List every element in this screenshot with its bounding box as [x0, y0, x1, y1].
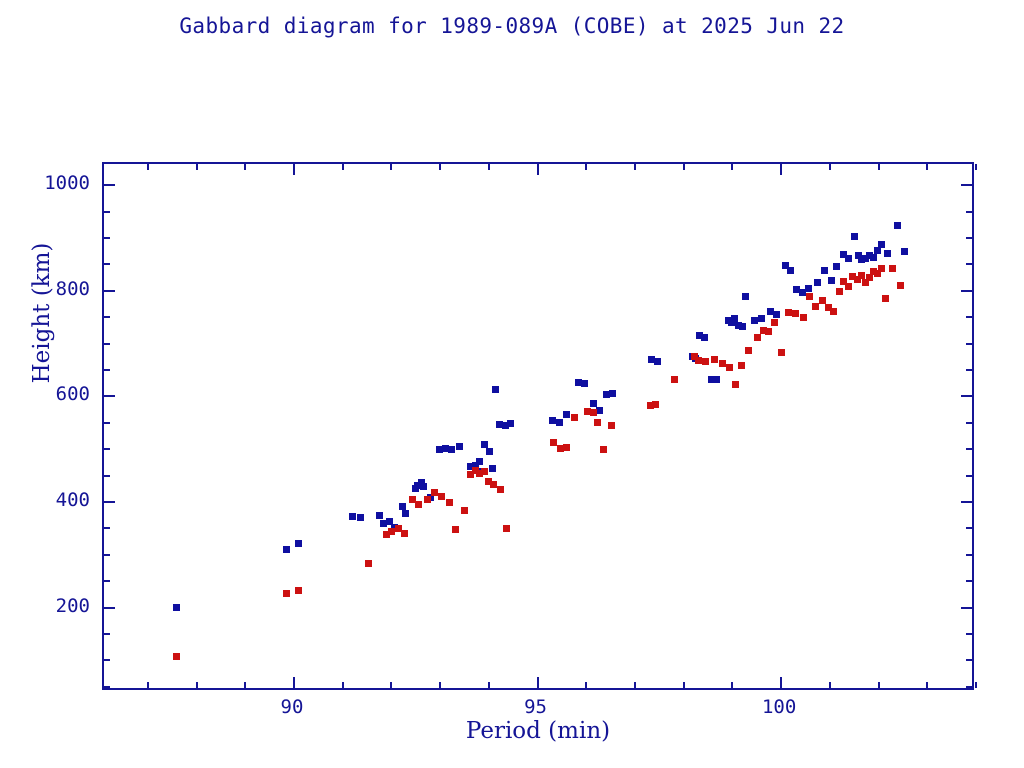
- y-tick-major: [104, 290, 115, 292]
- x-tick-minor: [634, 682, 636, 688]
- x-tick-minor: [683, 682, 685, 688]
- y-tick-minor: [966, 580, 972, 582]
- data-point-perigee: [819, 297, 826, 304]
- data-point-perigee: [806, 293, 813, 300]
- x-tick-minor: [244, 164, 246, 170]
- data-point-perigee: [792, 310, 799, 317]
- data-point-perigee: [608, 422, 615, 429]
- data-point-apogee: [563, 411, 570, 418]
- x-tick-minor: [634, 164, 636, 170]
- data-point-perigee: [438, 493, 445, 500]
- data-point-apogee: [654, 358, 661, 365]
- x-tick-minor: [926, 682, 928, 688]
- data-point-perigee: [461, 507, 468, 514]
- x-tick-minor: [342, 164, 344, 170]
- x-tick-minor: [683, 164, 685, 170]
- data-point-apogee: [821, 267, 828, 274]
- data-point-apogee: [349, 513, 356, 520]
- data-point-perigee: [424, 496, 431, 503]
- page-title: Gabbard diagram for 1989-089A (COBE) at …: [0, 14, 1024, 38]
- y-tick-minor: [104, 448, 110, 450]
- x-tick-minor: [731, 164, 733, 170]
- x-tick-minor: [975, 682, 977, 688]
- x-tick-minor: [244, 682, 246, 688]
- x-tick-major: [537, 677, 539, 688]
- y-tick-minor: [104, 686, 110, 688]
- data-point-perigee: [452, 526, 459, 533]
- data-point-perigee: [754, 334, 761, 341]
- data-point-apogee: [828, 277, 835, 284]
- data-point-apogee: [556, 419, 563, 426]
- data-point-apogee: [884, 250, 891, 257]
- data-point-apogee: [894, 222, 901, 229]
- y-tick-minor: [104, 633, 110, 635]
- data-point-perigee: [590, 409, 597, 416]
- data-point-apogee: [295, 540, 302, 547]
- data-point-apogee: [833, 263, 840, 270]
- x-tick-minor: [585, 682, 587, 688]
- y-tick-major: [961, 607, 972, 609]
- y-tick-minor: [104, 659, 110, 661]
- x-tick-minor: [196, 682, 198, 688]
- data-point-apogee: [357, 514, 364, 521]
- data-point-perigee: [738, 362, 745, 369]
- y-tick-major: [104, 607, 115, 609]
- y-tick-minor: [966, 475, 972, 477]
- y-tick-minor: [104, 422, 110, 424]
- data-point-apogee: [448, 446, 455, 453]
- data-point-perigee: [726, 364, 733, 371]
- y-tick-minor: [104, 237, 110, 239]
- data-point-perigee: [702, 358, 709, 365]
- data-point-perigee: [401, 530, 408, 537]
- y-tick-major: [961, 501, 972, 503]
- y-tick-minor: [104, 369, 110, 371]
- data-point-perigee: [778, 349, 785, 356]
- y-tick-minor: [966, 554, 972, 556]
- data-point-apogee: [486, 448, 493, 455]
- y-tick-minor: [104, 475, 110, 477]
- x-tick-label: 95: [524, 696, 547, 718]
- data-point-apogee: [701, 334, 708, 341]
- x-tick-label: 90: [281, 696, 304, 718]
- data-point-perigee: [415, 501, 422, 508]
- y-tick-major: [104, 184, 115, 186]
- data-point-apogee: [739, 323, 746, 330]
- x-tick-minor: [439, 682, 441, 688]
- y-tick-label: 200: [10, 595, 90, 617]
- y-tick-minor: [966, 237, 972, 239]
- data-point-apogee: [420, 483, 427, 490]
- data-point-perigee: [711, 356, 718, 363]
- data-point-apogee: [456, 443, 463, 450]
- data-point-perigee: [800, 314, 807, 321]
- data-point-perigee: [503, 525, 510, 532]
- x-tick-major: [293, 164, 295, 175]
- data-point-apogee: [283, 546, 290, 553]
- y-tick-major: [104, 501, 115, 503]
- data-point-perigee: [652, 401, 659, 408]
- y-axis-title: Height (km): [29, 183, 55, 443]
- x-tick-major: [780, 164, 782, 175]
- y-tick-major: [961, 290, 972, 292]
- x-tick-minor: [926, 164, 928, 170]
- data-point-perigee: [497, 486, 504, 493]
- y-tick-major: [961, 395, 972, 397]
- data-point-perigee: [845, 283, 852, 290]
- data-point-perigee: [481, 468, 488, 475]
- x-tick-minor: [342, 682, 344, 688]
- x-tick-minor: [975, 164, 977, 170]
- y-tick-minor: [966, 633, 972, 635]
- data-point-apogee: [549, 417, 556, 424]
- y-tick-minor: [104, 263, 110, 265]
- data-point-apogee: [173, 604, 180, 611]
- y-tick-minor: [966, 659, 972, 661]
- x-tick-minor: [488, 682, 490, 688]
- data-point-apogee: [814, 279, 821, 286]
- y-tick-minor: [104, 580, 110, 582]
- data-point-perigee: [866, 274, 873, 281]
- y-tick-label: 400: [10, 489, 90, 511]
- y-tick-minor: [104, 527, 110, 529]
- data-point-apogee: [507, 420, 514, 427]
- y-tick-major: [961, 184, 972, 186]
- x-tick-minor: [488, 164, 490, 170]
- data-point-perigee: [889, 265, 896, 272]
- gabbard-diagram-page: Gabbard diagram for 1989-089A (COBE) at …: [0, 0, 1024, 768]
- x-tick-minor: [196, 164, 198, 170]
- data-point-apogee: [581, 380, 588, 387]
- x-tick-minor: [585, 164, 587, 170]
- data-point-apogee: [492, 386, 499, 393]
- data-point-apogee: [773, 311, 780, 318]
- x-tick-minor: [390, 682, 392, 688]
- data-point-perigee: [283, 590, 290, 597]
- y-tick-major: [104, 395, 115, 397]
- y-tick-minor: [966, 527, 972, 529]
- data-point-perigee: [594, 419, 601, 426]
- data-point-perigee: [771, 319, 778, 326]
- data-point-apogee: [878, 241, 885, 248]
- data-point-apogee: [713, 376, 720, 383]
- y-tick-minor: [104, 211, 110, 213]
- x-tick-minor: [878, 164, 880, 170]
- data-point-perigee: [365, 560, 372, 567]
- data-point-perigee: [878, 265, 885, 272]
- x-tick-minor: [439, 164, 441, 170]
- data-point-apogee: [376, 512, 383, 519]
- x-tick-major: [293, 677, 295, 688]
- plot-frame: [102, 162, 974, 690]
- y-tick-minor: [966, 686, 972, 688]
- x-tick-minor: [147, 164, 149, 170]
- y-tick-minor: [966, 343, 972, 345]
- y-tick-minor: [966, 263, 972, 265]
- data-point-apogee: [476, 458, 483, 465]
- data-point-perigee: [600, 446, 607, 453]
- x-tick-minor: [829, 682, 831, 688]
- data-point-perigee: [897, 282, 904, 289]
- x-tick-major: [780, 677, 782, 688]
- y-tick-minor: [966, 422, 972, 424]
- data-point-perigee: [836, 288, 843, 295]
- data-point-perigee: [882, 295, 889, 302]
- data-point-perigee: [765, 328, 772, 335]
- y-tick-minor: [104, 554, 110, 556]
- data-point-apogee: [787, 267, 794, 274]
- data-point-perigee: [173, 653, 180, 660]
- data-point-perigee: [446, 499, 453, 506]
- data-point-perigee: [563, 444, 570, 451]
- data-point-apogee: [901, 248, 908, 255]
- y-tick-minor: [966, 448, 972, 450]
- x-tick-major: [537, 164, 539, 175]
- x-tick-minor: [829, 164, 831, 170]
- data-point-apogee: [851, 233, 858, 240]
- data-point-apogee: [609, 390, 616, 397]
- data-point-perigee: [830, 308, 837, 315]
- data-point-apogee: [489, 465, 496, 472]
- y-tick-minor: [966, 211, 972, 213]
- y-tick-minor: [966, 369, 972, 371]
- x-tick-minor: [147, 682, 149, 688]
- data-point-perigee: [295, 587, 302, 594]
- y-tick-minor: [104, 343, 110, 345]
- y-tick-minor: [966, 316, 972, 318]
- data-point-perigee: [671, 376, 678, 383]
- x-tick-minor: [390, 164, 392, 170]
- data-point-perigee: [732, 381, 739, 388]
- data-point-apogee: [870, 254, 877, 261]
- x-tick-minor: [731, 682, 733, 688]
- x-axis-title: Period (min): [102, 718, 974, 744]
- x-tick-minor: [878, 682, 880, 688]
- plot-area: [104, 164, 972, 688]
- data-point-apogee: [805, 285, 812, 292]
- data-point-apogee: [742, 293, 749, 300]
- x-tick-label: 100: [762, 696, 796, 718]
- data-point-perigee: [745, 347, 752, 354]
- y-tick-minor: [104, 316, 110, 318]
- data-point-apogee: [758, 315, 765, 322]
- data-point-apogee: [845, 255, 852, 262]
- data-point-perigee: [571, 414, 578, 421]
- data-point-apogee: [402, 510, 409, 517]
